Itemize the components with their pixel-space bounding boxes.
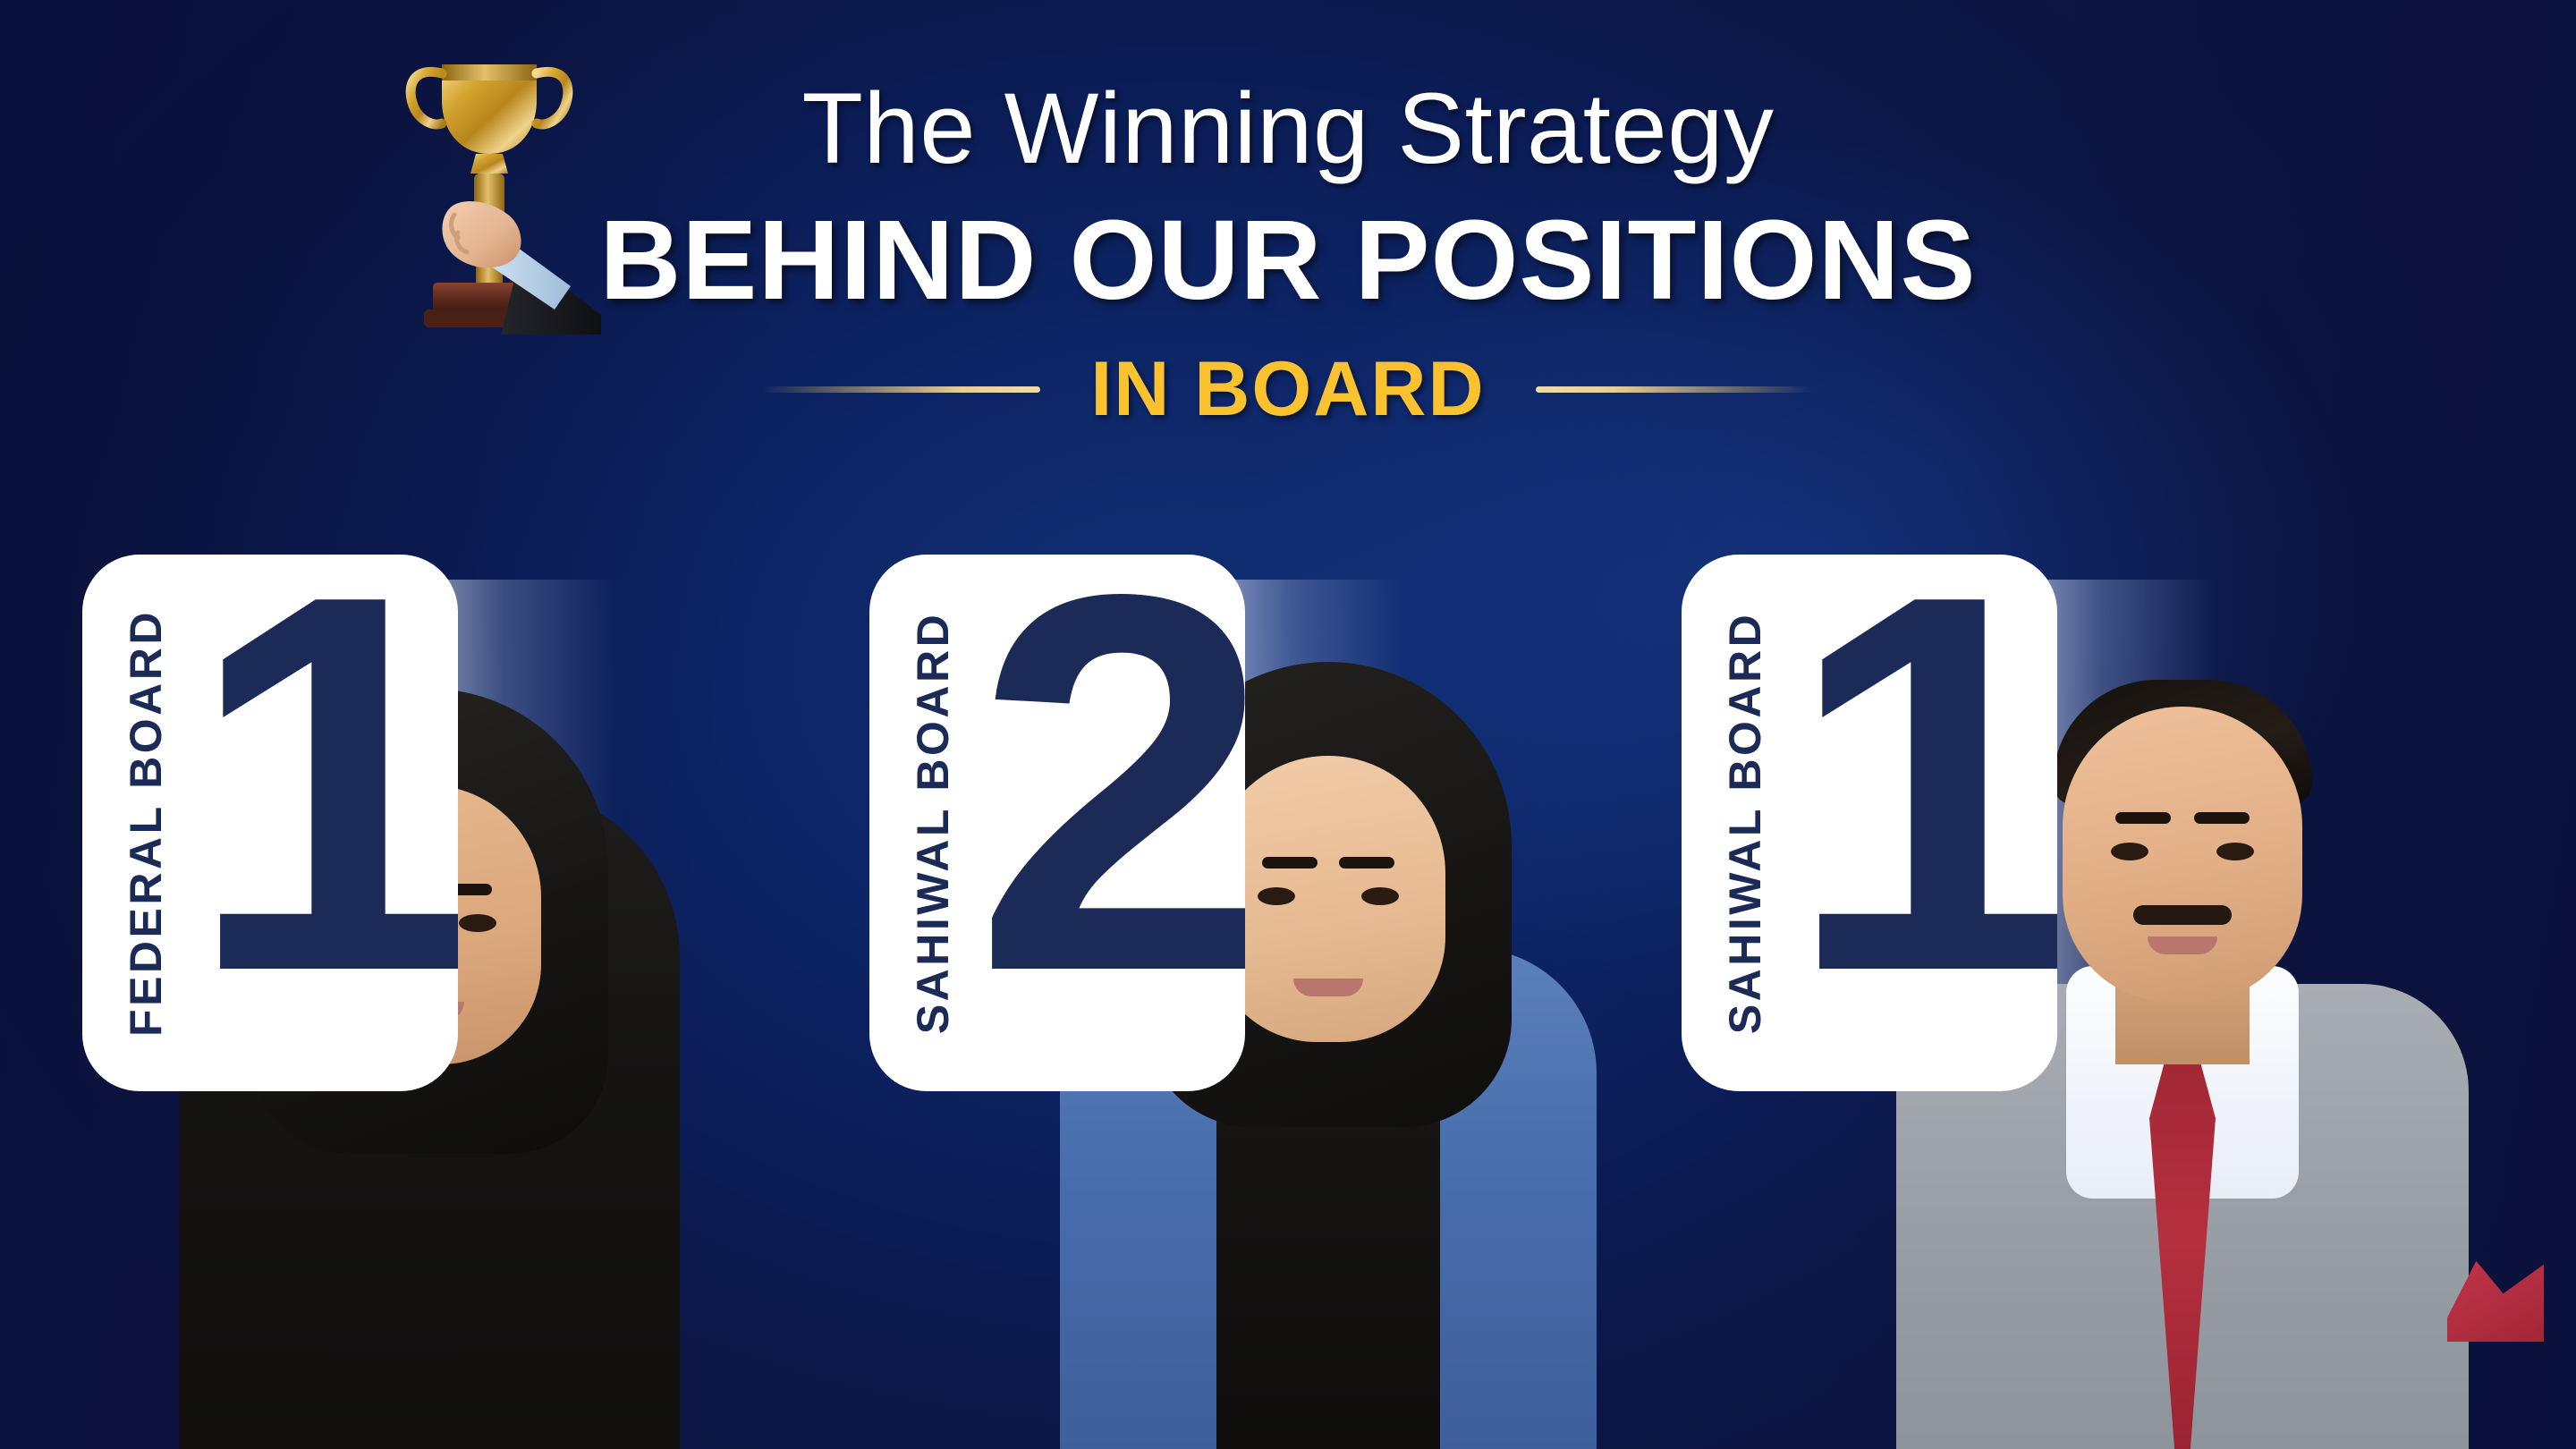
achiever-board-2: SAHIWAL BOARD xyxy=(907,612,959,1034)
achiever-board-3: SAHIWAL BOARD xyxy=(1719,612,1771,1034)
achiever-board-1: FEDERAL BOARD xyxy=(120,609,172,1037)
achievers-row: 1 FEDERAL BOARD 2 SAHIWAL BOARD xyxy=(0,0,2576,1449)
achiever-rank-2: 2 xyxy=(973,555,1245,1052)
achiever-badge-3[interactable]: 1 SAHIWAL BOARD xyxy=(1682,555,2057,1091)
achiever-badge-1[interactable]: 1 FEDERAL BOARD xyxy=(82,555,458,1091)
achiever-rank-1: 1 xyxy=(186,555,458,1052)
achievement-banner: The Winning Strategy BEHIND OUR POSITION… xyxy=(0,0,2576,1449)
achiever-rank-3: 1 xyxy=(1785,555,2057,1052)
achiever-badge-2[interactable]: 2 SAHIWAL BOARD xyxy=(869,555,1245,1091)
